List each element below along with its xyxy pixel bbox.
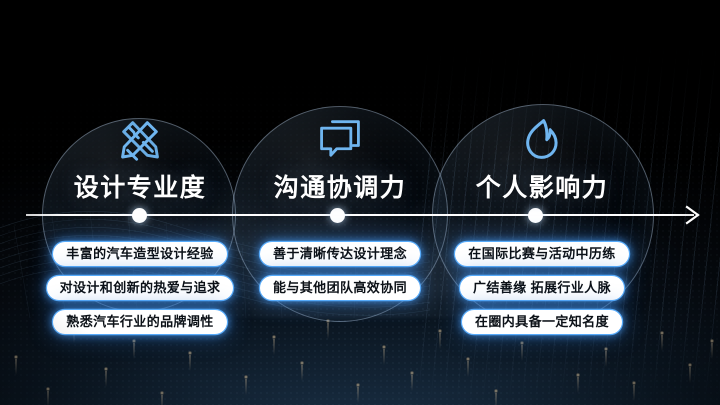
- slide-canvas: 设计专业度 丰富的汽车造型设计经验 对设计和创新的热爱与追求 熟悉汽车行业的品牌…: [0, 0, 720, 405]
- background-vignette: [0, 0, 720, 405]
